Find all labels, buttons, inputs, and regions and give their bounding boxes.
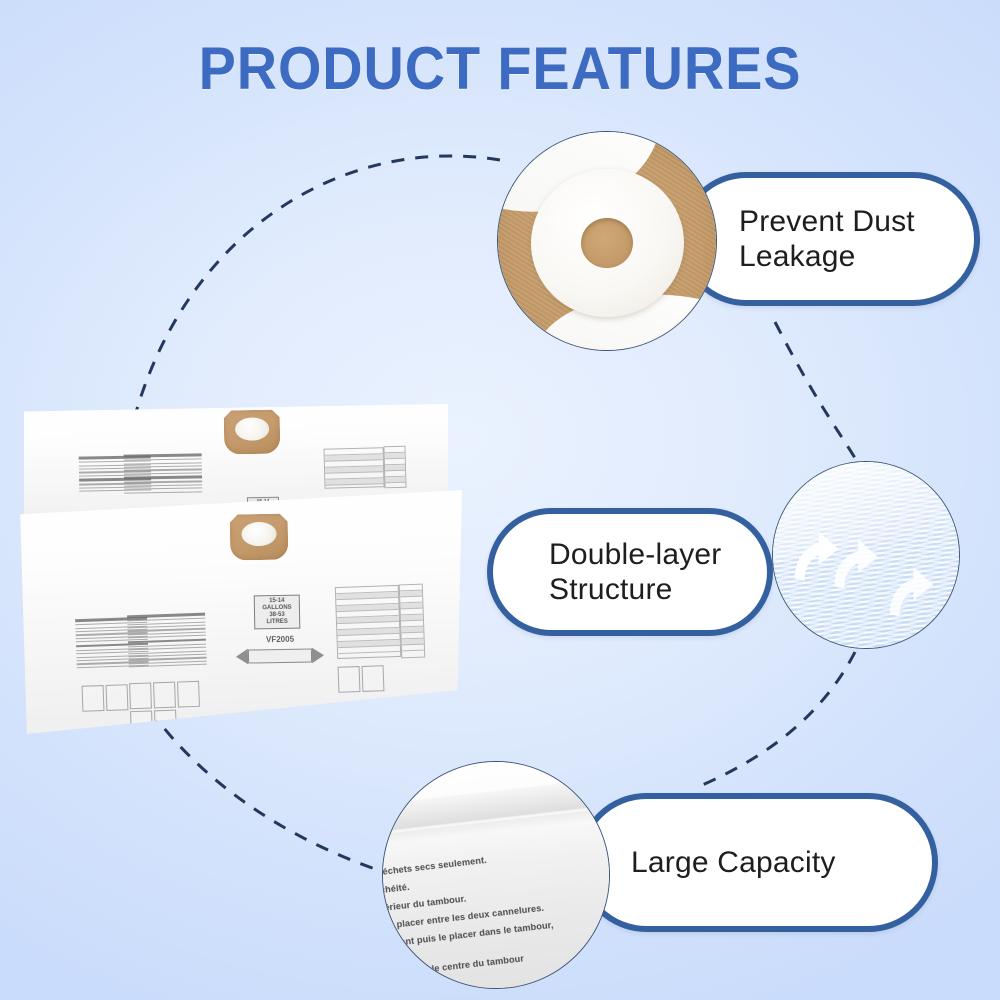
feature-image-bag-surface-french-instructions-closeup: es déchets secs seulement. tanchéité. l'…	[382, 761, 610, 989]
spec-table	[323, 447, 384, 489]
spec-table	[383, 446, 406, 489]
collar-center-hole	[579, 216, 635, 271]
capacity-badge: 15-14 GALLONS 38-53 LITRES	[254, 595, 301, 629]
feature-image-fiber-weave-airflow-closeup	[772, 461, 960, 649]
arrow-left-icon	[236, 649, 249, 665]
capacity-line-4: LITRES	[266, 618, 287, 624]
bag-collar	[224, 410, 281, 455]
infographic-canvas: PRODUCT FEATURES Prevent Dust Leakage Do…	[0, 0, 1000, 1000]
feature-pill-prevent-dust-leakage[interactable]: Prevent Dust Leakage	[679, 172, 980, 306]
spec-table	[399, 584, 426, 659]
product-photo-vacuum-filter-bags: 15-14	[18, 404, 462, 734]
feature-label: Prevent Dust Leakage	[739, 204, 974, 274]
feature-label: Large Capacity	[631, 845, 836, 880]
filter-bag-bottom: 15-14 GALLONS 38-53 LITRES VF2005	[18, 490, 462, 734]
instruction-text-block	[127, 613, 207, 670]
airflow-arrow-icon	[834, 539, 878, 588]
spec-table	[335, 585, 401, 659]
capacity-line-2: GALLONS	[262, 605, 291, 612]
instruction-pictogram-row	[338, 665, 385, 693]
connector-arc-bottom-left	[150, 710, 410, 880]
connector-arc-right	[775, 322, 855, 458]
airflow-arrows	[773, 462, 959, 648]
connector-arc-bottom-right	[700, 652, 855, 786]
feature-pill-double-layer-structure[interactable]: Double-layer Structure	[487, 508, 773, 636]
bag-collar	[230, 513, 289, 560]
feature-pill-large-capacity[interactable]: Large Capacity	[577, 793, 938, 932]
capacity-line-3: 38-53	[269, 612, 284, 618]
instruction-pictogram-row	[82, 684, 129, 712]
feature-image-cardboard-collar-gasket-closeup	[497, 131, 717, 351]
arrow-bar-label-box	[248, 648, 312, 663]
instruction-pictogram-row	[129, 681, 201, 737]
installation-arrow-bar	[236, 647, 324, 665]
feature-label: Double-layer Structure	[549, 537, 767, 607]
capacity-line-1: 15-14	[269, 598, 284, 604]
model-number: VF2005	[266, 635, 294, 644]
arrow-right-icon	[312, 647, 325, 663]
instruction-text-block	[124, 453, 203, 495]
airflow-arrow-icon	[795, 531, 839, 580]
airflow-arrow-icon	[890, 567, 934, 616]
